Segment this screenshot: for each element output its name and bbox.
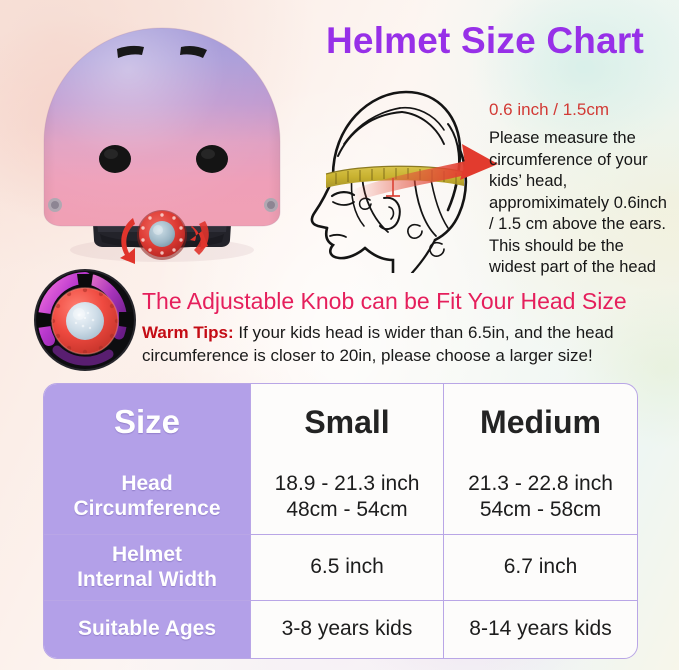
adjustable-knob-headline: The Adjustable Knob can be Fit Your Head… xyxy=(142,288,662,315)
cell-medium-head-circumference: 21.3 - 22.8 inch 54cm - 58cm xyxy=(444,460,637,535)
table-row: Head Circumference 18.9 - 21.3 inch 48cm… xyxy=(44,460,637,535)
adjustable-knob-icon xyxy=(33,268,137,372)
row-label-helmet-internal-width: Helmet Internal Width xyxy=(44,535,251,601)
header-column-small: Small xyxy=(251,384,444,460)
cell-small-head-circumference: 18.9 - 21.3 inch 48cm - 54cm xyxy=(251,460,444,535)
row-label-head-circumference: Head Circumference xyxy=(44,460,251,535)
header-size-label: Size xyxy=(44,384,251,460)
cell-medium-suitable-ages: 8-14 years kids xyxy=(444,601,637,658)
warm-tips: Warm Tips: If your kids head is wider th… xyxy=(142,321,667,367)
helmet-image xyxy=(22,12,302,274)
cell-medium-helmet-internal-width: 6.7 inch xyxy=(444,535,637,601)
table-row: Suitable Ages 3-8 years kids 8-14 years … xyxy=(44,601,637,658)
measure-callout-heading: 0.6 inch / 1.5cm xyxy=(489,100,679,120)
table-header-row: Size Small Medium xyxy=(44,384,637,460)
cell-small-suitable-ages: 3-8 years kids xyxy=(251,601,444,658)
page-title: Helmet Size Chart xyxy=(300,20,670,62)
warm-tips-label: Warm Tips: xyxy=(142,323,234,342)
head-measure-diagram xyxy=(292,78,502,273)
cell-small-helmet-internal-width: 6.5 inch xyxy=(251,535,444,601)
size-chart-table: Size Small Medium Head Circumference 18.… xyxy=(43,383,638,659)
helmet-adjust-knob xyxy=(137,210,187,260)
header-column-medium: Medium xyxy=(444,384,637,460)
row-label-suitable-ages: Suitable Ages xyxy=(44,601,251,658)
table-row: Helmet Internal Width 6.5 inch 6.7 inch xyxy=(44,535,637,601)
measure-callout-body: Please measure the circumference of your… xyxy=(489,128,673,279)
